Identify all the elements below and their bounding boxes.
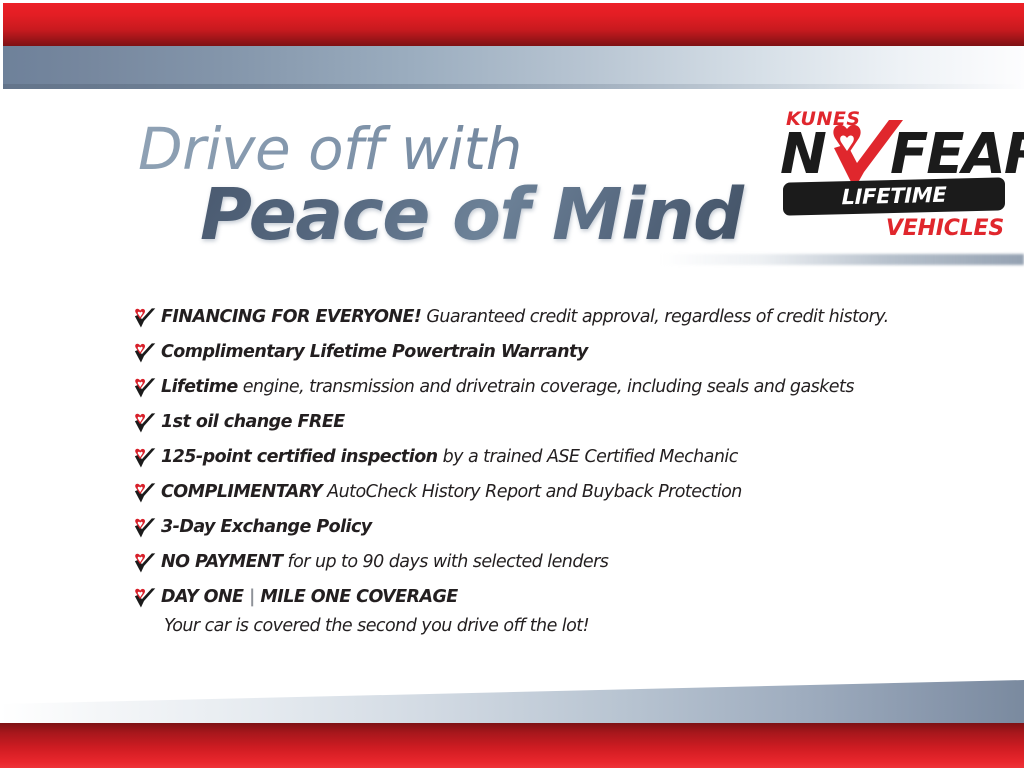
headline-line-1: Drive off with bbox=[138, 122, 778, 177]
list-item-bold: COMPLIMENTARY bbox=[161, 482, 322, 502]
list-item-rest: Guaranteed credit approval, regardless o… bbox=[421, 307, 888, 327]
list-item-rest: for up to 90 days with selected lenders bbox=[283, 552, 609, 572]
heart-check-bullet-icon bbox=[131, 342, 161, 366]
heart-check-bullet-icon bbox=[131, 587, 161, 611]
list-item: 1st oil change FREE bbox=[131, 411, 951, 437]
logo-certified-band: LIFETIME CERTIFIED bbox=[783, 177, 1005, 215]
list-item: COMPLIMENTARY AutoCheck History Report a… bbox=[131, 481, 951, 507]
heart-check-bullet-icon bbox=[131, 412, 161, 436]
list-item-text: FINANCING FOR EVERYONE! Guaranteed credi… bbox=[161, 306, 951, 329]
top-red-stripe bbox=[3, 3, 1024, 46]
heart-check-bullet-icon bbox=[131, 307, 161, 331]
heart-check-bullet-icon bbox=[131, 377, 161, 401]
list-item-rest: engine, transmission and drivetrain cove… bbox=[238, 377, 854, 397]
promo-poster: Drive off with Peace of Mind KUNES N FEA… bbox=[0, 0, 1024, 768]
list-item-rest: AutoCheck History Report and Buyback Pro… bbox=[322, 482, 742, 502]
heart-check-bullet-icon bbox=[131, 447, 161, 471]
kunes-no-fear-logo: KUNES N FEAR LIFETIME CERTIFIED VEHICLES bbox=[778, 108, 1010, 248]
heart-check-bullet-icon bbox=[131, 552, 161, 576]
headline-divider bbox=[660, 254, 1024, 265]
logo-vehicles-text: VEHICLES bbox=[886, 216, 1004, 241]
list-item-subtext: Your car is covered the second you drive… bbox=[161, 615, 951, 638]
top-gray-stripe bbox=[3, 46, 1024, 89]
list-item-bold: NO PAYMENT bbox=[161, 552, 283, 572]
list-item-bold: 3-Day Exchange Policy bbox=[161, 517, 372, 537]
headline-line-2: Peace of Mind bbox=[200, 179, 778, 250]
list-item-text: 1st oil change FREE bbox=[161, 411, 951, 434]
bottom-gray-stripe bbox=[0, 680, 1024, 728]
list-item-bold: DAY ONE bbox=[161, 587, 243, 607]
list-item-bold: FINANCING FOR EVERYONE! bbox=[161, 307, 421, 327]
benefits-list: FINANCING FOR EVERYONE! Guaranteed credi… bbox=[131, 306, 951, 647]
list-item: 125-point certified inspection by a trai… bbox=[131, 446, 951, 472]
list-item: NO PAYMENT for up to 90 days with select… bbox=[131, 551, 951, 577]
logo-certified-text: LIFETIME CERTIFIED bbox=[783, 177, 1005, 215]
list-item: DAY ONE | MILE ONE COVERAGE bbox=[131, 586, 951, 612]
list-item-bold: Complimentary Lifetime Powertrain Warran… bbox=[161, 342, 588, 362]
list-item-rest: by a trained ASE Certified Mechanic bbox=[438, 447, 738, 467]
list-item-text: 125-point certified inspection by a trai… bbox=[161, 446, 951, 469]
heart-check-bullet-icon bbox=[131, 482, 161, 506]
bottom-red-stripe bbox=[0, 723, 1024, 768]
list-item-text: 3-Day Exchange Policy bbox=[161, 516, 951, 539]
list-item-text: COMPLIMENTARY AutoCheck History Report a… bbox=[161, 481, 951, 504]
list-item-separator: | bbox=[243, 587, 260, 607]
list-item: 3-Day Exchange Policy bbox=[131, 516, 951, 542]
logo-word-fear: FEAR bbox=[890, 126, 1024, 184]
list-item-bold: 125-point certified inspection bbox=[161, 447, 438, 467]
list-item-text: Lifetime engine, transmission and drivet… bbox=[161, 376, 951, 399]
list-item-bold-2: MILE ONE COVERAGE bbox=[260, 587, 457, 607]
list-item-text: NO PAYMENT for up to 90 days with select… bbox=[161, 551, 951, 574]
list-item-bold: 1st oil change FREE bbox=[161, 412, 345, 432]
heart-check-bullet-icon bbox=[131, 517, 161, 541]
top-white-edge bbox=[0, 0, 1024, 3]
list-item-text: Complimentary Lifetime Powertrain Warran… bbox=[161, 341, 951, 364]
list-item-text: DAY ONE | MILE ONE COVERAGE bbox=[161, 586, 951, 609]
list-item: Lifetime engine, transmission and drivet… bbox=[131, 376, 951, 402]
list-item: Complimentary Lifetime Powertrain Warran… bbox=[131, 341, 951, 367]
list-item-bold: Lifetime bbox=[161, 377, 238, 397]
headline-block: Drive off with Peace of Mind bbox=[138, 122, 778, 250]
list-item: FINANCING FOR EVERYONE! Guaranteed credi… bbox=[131, 306, 951, 332]
left-white-edge bbox=[0, 0, 3, 768]
